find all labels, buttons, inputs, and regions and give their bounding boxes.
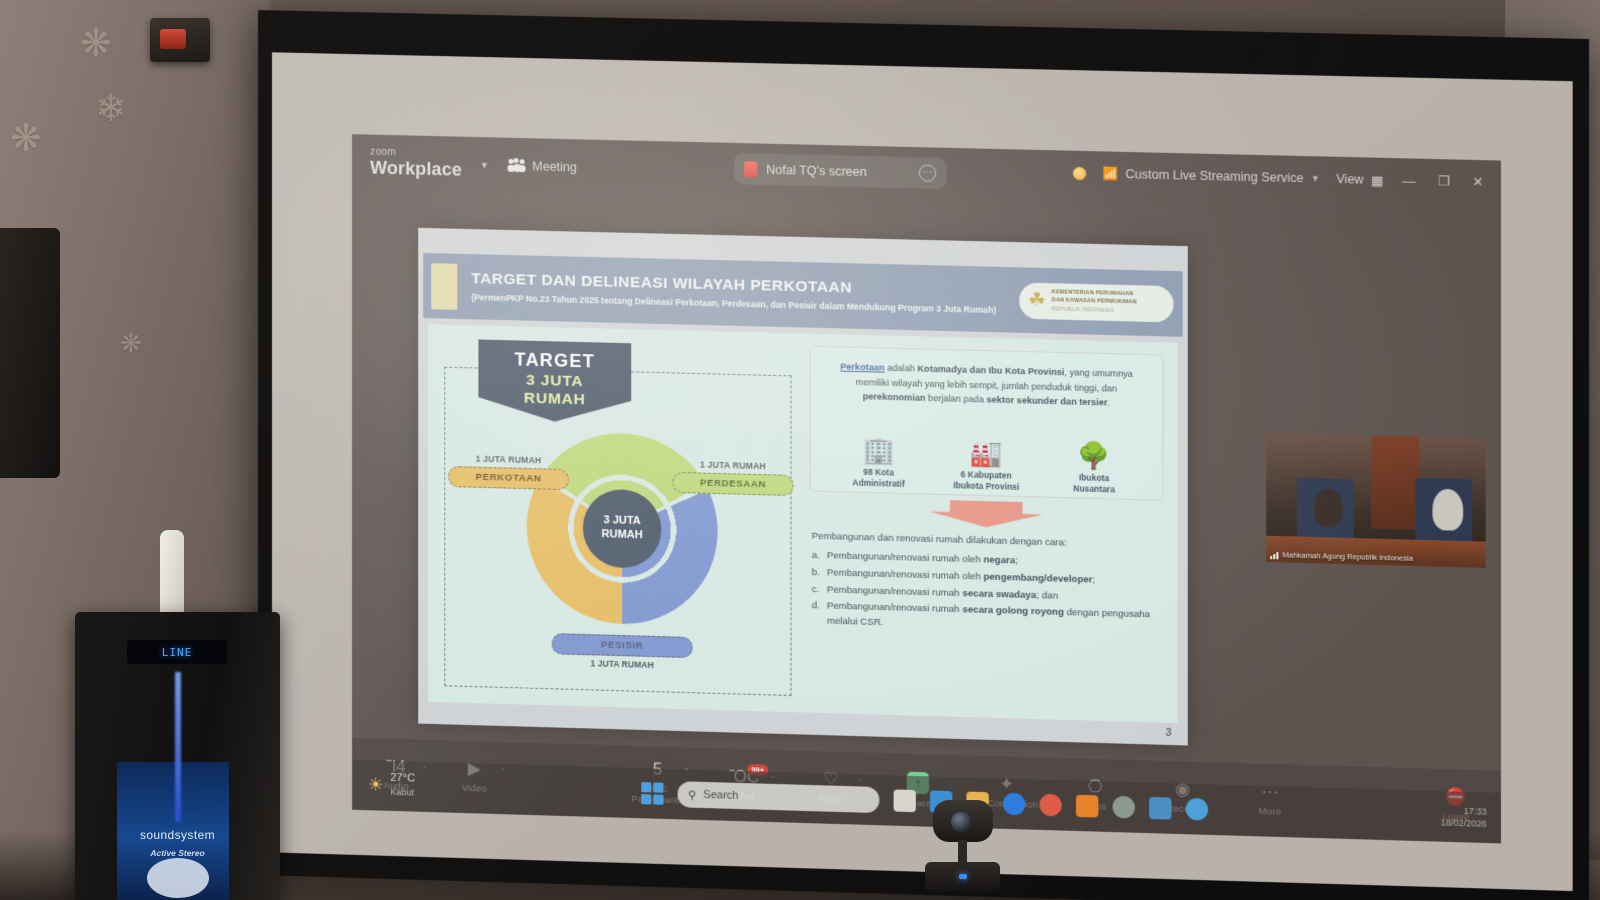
weather-widget[interactable]: ☀ 27°C Kabut [368, 771, 415, 800]
share-options-icon[interactable]: ⋯ [919, 164, 936, 182]
meeting-tab[interactable]: Meeting [507, 159, 577, 175]
stat-kota-line2: Administratif [825, 477, 931, 491]
live-streaming-label: Custom Live Streaming Service [1126, 167, 1304, 185]
ministry-line1: KEMENTERIAN PERUMAHAN [1052, 290, 1134, 298]
taskbar-chrome-icon[interactable] [1039, 794, 1061, 817]
perdesaan-pill: PERDESAAN [672, 472, 793, 496]
stat-kabupaten-ibukota: 🏭 6 Kabupaten Ibukota Provinsi [933, 438, 1040, 494]
bullet-marker: b. [812, 566, 822, 581]
bullet-text: Pembangunan/renovasi rumah secara golong… [827, 600, 1164, 639]
screen-share-indicator[interactable]: Nofal TQ's screen ⋯ [734, 153, 946, 189]
method-list: Pembangunan dan renovasi rumah dilakukan… [812, 530, 1164, 641]
definition-term: Perkotaan [840, 362, 884, 373]
speaker-brand-label: soundsystem [75, 828, 280, 842]
warning-icon [1073, 166, 1086, 179]
definition-panel: Perkotaan adalah Kotamadya dan Ibu Kota … [806, 344, 1168, 713]
stat-kabupaten-line2: Ibukota Provinsi [933, 480, 1040, 494]
conference-camera [925, 800, 1000, 900]
search-placeholder: Search [703, 789, 738, 802]
bullet-marker: c. [812, 583, 822, 598]
target-diagram-panel: TARGET 3 JUTA RUMAH [438, 334, 795, 702]
perkotaan-pill: PERKOTAAN [448, 466, 569, 490]
perkotaan-caption: 1 JUTA RUMAH [448, 453, 569, 466]
city-buildings-icon: 🏢 [825, 436, 931, 465]
projector-lens [160, 29, 186, 49]
method-bullets: a.Pembangunan/renovasi rumah oleh negara… [812, 549, 1164, 639]
segment-label-pesisir: PESISIR 1 JUTA RUMAH [552, 630, 693, 671]
pesisir-pill: PESISIR [552, 633, 693, 658]
people-icon [507, 159, 525, 173]
bullet-marker: d. [812, 600, 822, 630]
weather-icon: ☀ [368, 775, 383, 797]
definition-card: Perkotaan adalah Kotamadya dan Ibu Kota … [810, 346, 1164, 501]
clock-date: 18/02/2026 [1441, 816, 1487, 830]
video-person [1314, 488, 1342, 528]
taskbar-clock[interactable]: 17:33 18/02/2026 [1441, 804, 1487, 830]
donut-center-line1: 3 JUTA [603, 514, 640, 529]
projector-device [150, 18, 210, 62]
weather-condition: Kabut [390, 787, 414, 798]
projection-screen-surface: zoom Workplace ▼ Meeting Nofal TQ's scre… [272, 52, 1573, 891]
weather-text: 27°C Kabut [390, 772, 415, 800]
search-icon: ⚲ [688, 788, 696, 801]
zoom-logo-top: zoom [370, 148, 462, 161]
ministry-emblem-icon: ☘ [1028, 291, 1045, 311]
speaker-display: LINE [127, 640, 227, 664]
signal-bars-icon [1270, 550, 1278, 558]
microphone-stand [160, 530, 184, 615]
segment-label-perdesaan: 1 JUTA RUMAH PERDESAAN [672, 459, 793, 496]
meeting-tab-label: Meeting [532, 159, 577, 174]
taskbar-zoom-app-icon[interactable] [1002, 793, 1024, 816]
taskbar-vlc-icon[interactable] [1075, 795, 1097, 818]
taskbar-task-view-icon[interactable] [893, 789, 915, 812]
zoom-meeting-window: zoom Workplace ▼ Meeting Nofal TQ's scre… [352, 134, 1501, 843]
village-farm-icon: 🏭 [933, 438, 1040, 467]
down-arrow-icon [930, 500, 1044, 529]
target-banner-line1: TARGET [478, 349, 631, 374]
slide-body: TARGET 3 JUTA RUMAH [428, 324, 1177, 723]
taskbar-settings-icon[interactable] [1185, 798, 1207, 821]
zoom-logo: zoom Workplace [370, 148, 462, 180]
share-status-icon [744, 161, 757, 177]
definition-text: Perkotaan adalah Kotamadya dan Ibu Kota … [825, 359, 1148, 412]
search-input[interactable]: ⚲ Search [677, 781, 879, 813]
perdesaan-caption: 1 JUTA RUMAH [672, 459, 793, 472]
taskbar-excel-icon[interactable] [1149, 797, 1171, 820]
start-button[interactable] [641, 782, 663, 805]
ministry-logo: ☘ KEMENTERIAN PERUMAHAN DAN KAWASAN PERM… [1019, 282, 1173, 322]
zoom-topbar-right: 📶 Custom Live Streaming Service ▼ View ▦… [1073, 165, 1487, 191]
donut-center-label: 3 JUTA RUMAH [583, 489, 662, 569]
close-button[interactable]: ✕ [1469, 174, 1486, 191]
broadcast-icon: 📶 [1103, 166, 1119, 181]
speaker-badge [147, 858, 209, 898]
stat-icon-row: 🏢 98 Kota Administratif 🏭 6 Kabupaten Ib… [825, 436, 1148, 497]
view-button[interactable]: View ▦ [1336, 171, 1383, 187]
nusantara-tree-icon: 🌳 [1041, 441, 1148, 470]
segment-label-perkotaan: 1 JUTA RUMAH PERKOTAAN [448, 453, 569, 490]
bullet-marker: a. [812, 549, 822, 564]
speaker-light-beam [175, 672, 181, 822]
share-owner-label: Nofal TQ's screen [766, 162, 866, 178]
wall-cabinet [0, 228, 60, 478]
ministry-line2: DAN KAWASAN PERMUKIMAN [1052, 298, 1137, 306]
slide-header-accent [431, 263, 457, 310]
zoom-logo-main: Workplace [370, 158, 462, 179]
shared-slide: TARGET DAN DELINEASI WILAYAH PERKOTAAN (… [418, 228, 1188, 746]
taskbar-whatsapp-icon[interactable] [1112, 796, 1134, 819]
maximize-button[interactable]: ❐ [1435, 173, 1453, 190]
stat-ibukota-nusantara: 🌳 Ibukota Nusantara [1041, 441, 1148, 497]
speaker-tower: LINE soundsystem Active Stereo [75, 612, 280, 900]
ministry-line3: REPUBLIK INDONESIA [1052, 306, 1114, 314]
projection-screen-frame: zoom Workplace ▼ Meeting Nofal TQ's scre… [258, 10, 1589, 900]
live-streaming-status[interactable]: 📶 Custom Live Streaming Service ▼ [1103, 166, 1320, 186]
minimize-button[interactable]: — [1399, 173, 1418, 189]
slide-page-number: 3 [1165, 727, 1171, 739]
stat-nusantara-line2: Nusantara [1041, 483, 1148, 497]
stat-kota-administratif: 🏢 98 Kota Administratif [825, 436, 931, 492]
zoom-topbar: zoom Workplace ▼ Meeting Nofal TQ's scre… [352, 134, 1501, 217]
slide-header: TARGET DAN DELINEASI WILAYAH PERKOTAAN (… [423, 253, 1182, 337]
layout-icon: ▦ [1371, 172, 1383, 187]
camera-led-icon [959, 874, 967, 879]
participant-video-tile[interactable]: Mahkamah Agung Republik Indonesia [1266, 433, 1485, 568]
speaker-sub-label: Active Stereo [75, 848, 280, 858]
view-label: View [1336, 172, 1363, 187]
video-backdrop-panel [1371, 435, 1419, 529]
chevron-down-icon: ▼ [1311, 173, 1320, 183]
camera-lens [951, 812, 971, 832]
weather-temperature: 27°C [390, 772, 415, 785]
chevron-down-icon[interactable]: ▼ [480, 160, 489, 170]
definition-body: adalah Kotamadya dan Ibu Kota Provinsi, … [856, 363, 1133, 408]
donut-center-line2: RUMAH [602, 528, 643, 543]
slide-header-text: TARGET DAN DELINEASI WILAYAH PERKOTAAN (… [471, 270, 1019, 317]
ministry-logo-text: KEMENTERIAN PERUMAHAN DAN KAWASAN PERMUK… [1052, 289, 1137, 316]
video-person [1433, 489, 1464, 531]
